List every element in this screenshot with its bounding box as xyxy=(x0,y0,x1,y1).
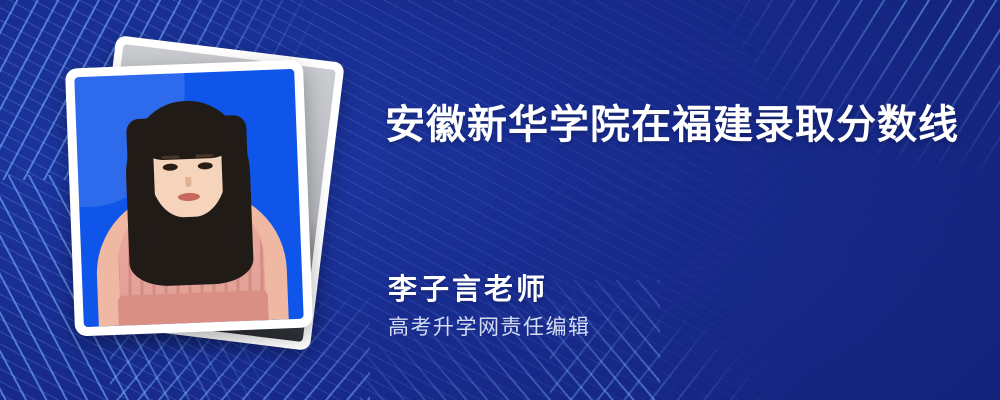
page-title: 安徽新华学院在福建录取分数线 xyxy=(385,102,959,149)
article-header-banner: 安徽新华学院在福建录取分数线 李子言老师 高考升学网责任编辑 xyxy=(0,0,1000,400)
portrait-dress-waist xyxy=(118,290,269,326)
author-portrait-photo xyxy=(74,69,303,327)
portrait-nose xyxy=(185,177,191,187)
photo-card-front xyxy=(65,60,313,337)
photo-card-stack xyxy=(56,42,346,352)
author-name: 李子言老师 xyxy=(388,272,591,308)
author-block: 李子言老师 高考升学网责任编辑 xyxy=(388,272,591,342)
author-role: 高考升学网责任编辑 xyxy=(388,314,591,341)
chevron-pattern-mid-right xyxy=(550,200,880,400)
